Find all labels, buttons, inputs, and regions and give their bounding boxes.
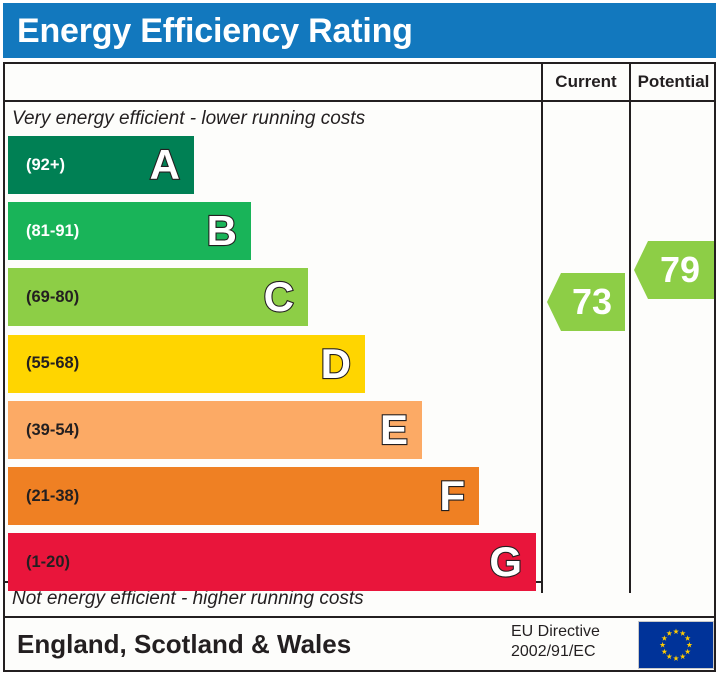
- potential-rating-arrow: 79: [634, 241, 714, 299]
- band-range-c: (69-80): [8, 289, 79, 306]
- rating-band-d: (55-68)D: [8, 335, 365, 393]
- potential-rating-arrow-value: 79: [660, 252, 700, 288]
- footer-region-label: England, Scotland & Wales: [5, 629, 351, 660]
- band-letter-d: D: [321, 343, 351, 385]
- column-divider-potential: [629, 62, 631, 593]
- band-range-a: (92+): [8, 157, 65, 174]
- page-title: Energy Efficiency Rating: [3, 14, 413, 48]
- band-letter-f: F: [439, 475, 465, 517]
- eu-flag-svg: [639, 622, 713, 668]
- band-range-f: (21-38): [8, 488, 79, 505]
- band-range-g: (1-20): [8, 554, 70, 571]
- eu-directive-line1: EU Directive: [511, 622, 631, 642]
- band-letter-a: A: [150, 144, 180, 186]
- band-range-d: (55-68): [8, 355, 79, 372]
- current-rating-arrow-value: 73: [572, 284, 612, 320]
- band-range-b: (81-91): [8, 223, 79, 240]
- eu-directive-line2: 2002/91/EC: [511, 642, 631, 662]
- rating-band-b: (81-91)B: [8, 202, 251, 260]
- chart-title-bar: Energy Efficiency Rating: [3, 3, 716, 58]
- rating-band-a: (92+)A: [8, 136, 194, 194]
- eu-flag-icon: [638, 621, 714, 669]
- eu-directive-text: EU Directive 2002/91/EC: [511, 622, 631, 662]
- rating-band-g: (1-20)G: [8, 533, 536, 591]
- caption-inefficient: Not energy efficient - higher running co…: [12, 588, 364, 610]
- current-rating-arrow: 73: [547, 273, 625, 331]
- column-divider-current: [541, 62, 543, 593]
- band-letter-c: C: [264, 276, 294, 318]
- rating-band-c: (69-80)C: [8, 268, 308, 326]
- band-letter-e: E: [380, 409, 408, 451]
- column-header-current: Current: [543, 62, 629, 102]
- band-range-e: (39-54): [8, 422, 79, 439]
- band-letter-b: B: [207, 210, 237, 252]
- column-header-potential: Potential: [631, 62, 716, 102]
- band-letter-g: G: [489, 541, 522, 583]
- rating-band-e: (39-54)E: [8, 401, 422, 459]
- rating-band-f: (21-38)F: [8, 467, 479, 525]
- caption-efficient: Very energy efficient - lower running co…: [12, 108, 365, 130]
- energy-efficiency-rating-chart: Energy Efficiency Rating Current Potenti…: [0, 0, 719, 675]
